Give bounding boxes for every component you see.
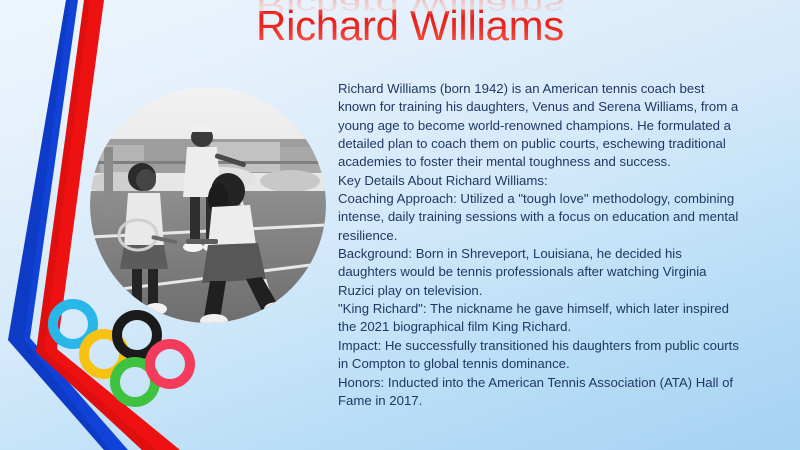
body-paragraph-4: Background: Born in Shreveport, Louisian…: [338, 245, 742, 300]
photo-illustration: [90, 87, 326, 323]
body-paragraph-6: Impact: He successfully transitioned his…: [338, 337, 742, 374]
ring-green-icon: [115, 362, 155, 402]
richard-williams-photo: [90, 87, 326, 323]
slide-title-reflection: Richard Williams: [180, 0, 640, 20]
ring-yellow-icon: [84, 334, 124, 374]
ring-blue-icon: [53, 304, 93, 344]
body-paragraph-2: Key Details About Richard Williams:: [338, 172, 742, 190]
body-paragraph-7: Honors: Inducted into the American Tenni…: [338, 374, 742, 411]
slide-title: Richard Williams Richard Williams: [180, 2, 640, 74]
body-paragraph-5: "King Richard": The nickname he gave him…: [338, 300, 742, 337]
body-paragraph-3: Coaching Approach: Utilized a "tough lov…: [338, 190, 742, 245]
body-paragraph-1: Richard Williams (born 1942) is an Ameri…: [338, 80, 742, 172]
ring-red-icon: [150, 344, 190, 384]
presentation-slide: Richard Williams Richard Williams Richar…: [0, 0, 800, 450]
ring-black-icon: [117, 315, 157, 355]
slide-body-text: Richard Williams (born 1942) is an Ameri…: [338, 80, 742, 410]
